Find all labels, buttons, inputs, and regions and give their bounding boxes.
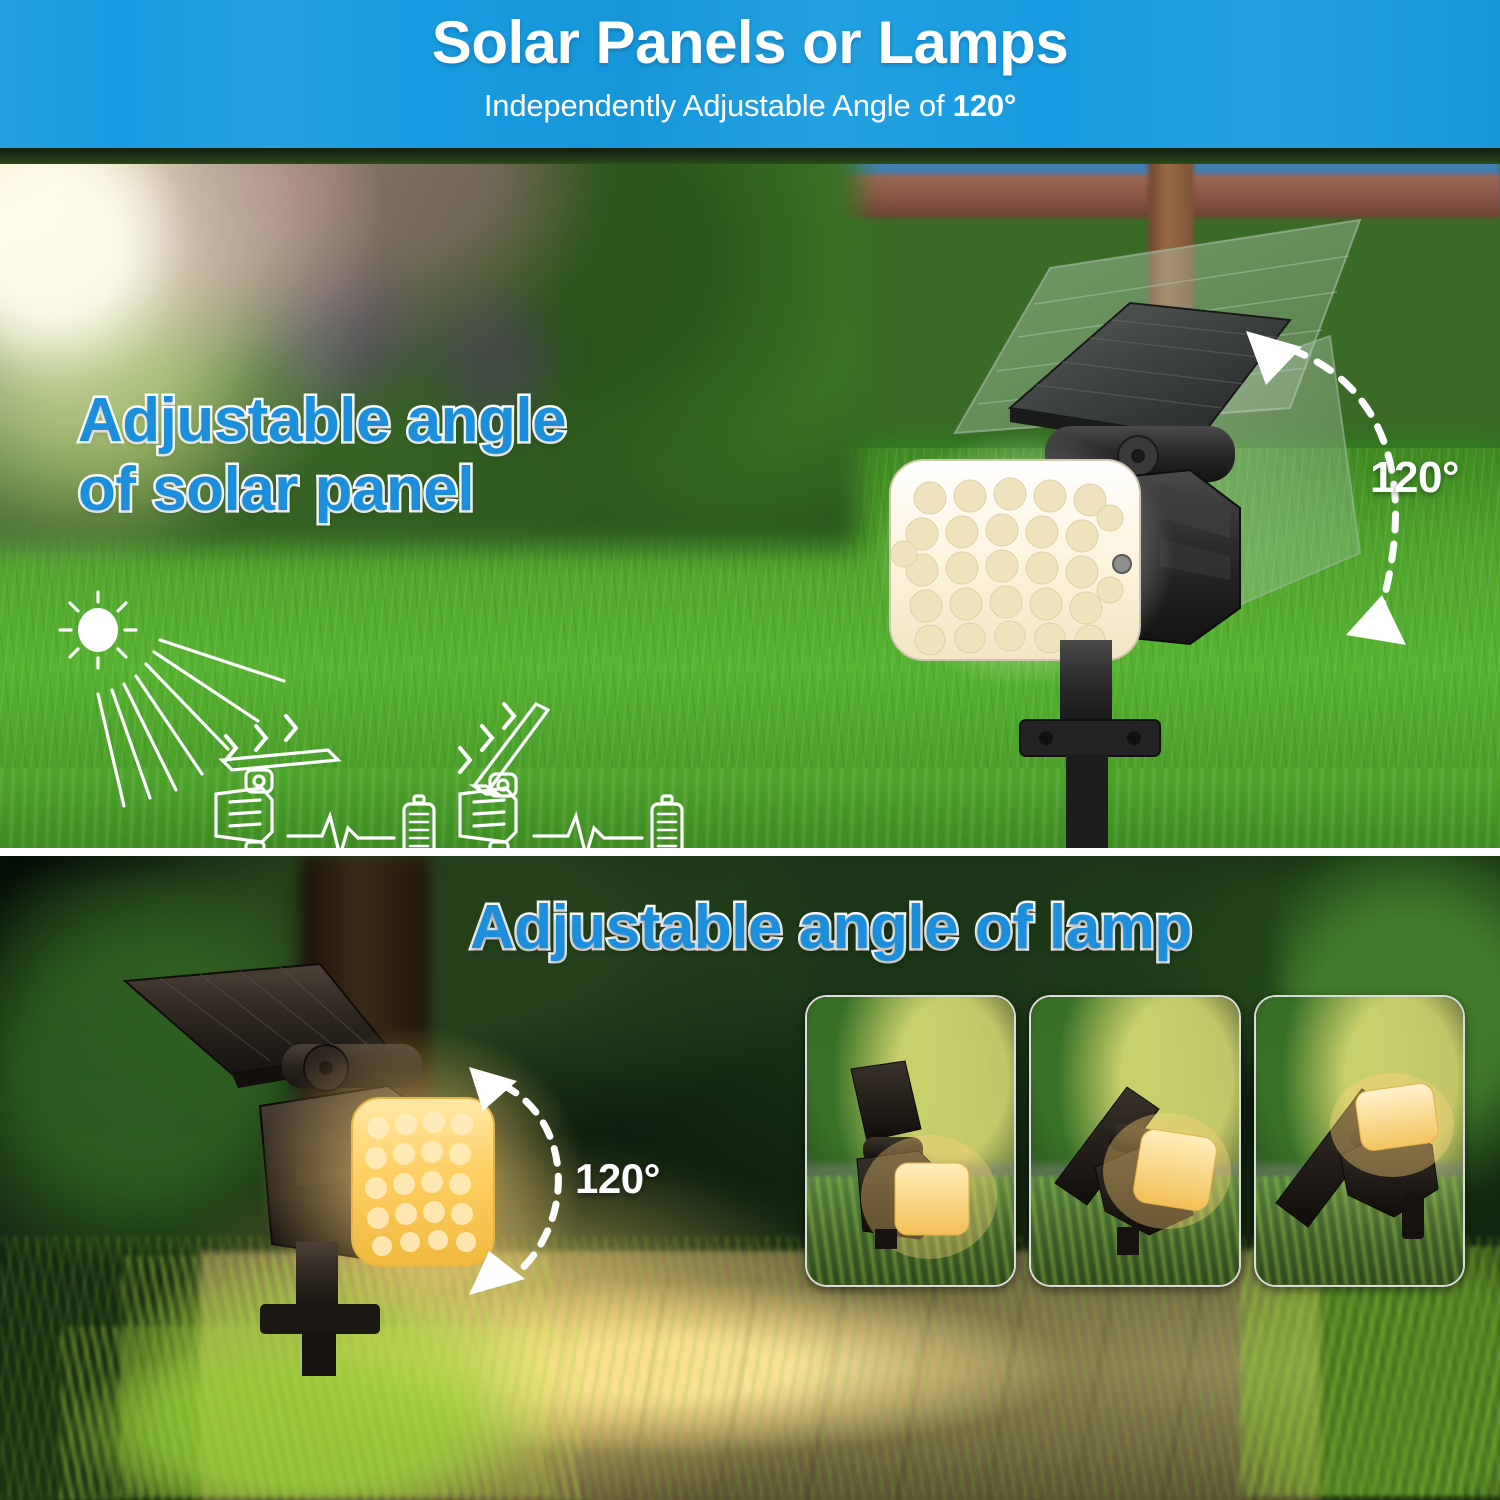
panel-divider bbox=[0, 848, 1500, 856]
solar-panel-angle-annotation: 120° bbox=[1230, 313, 1500, 673]
charge-waveform-1 bbox=[288, 816, 394, 848]
bottom-panel-headline: Adjustable angle of lamp bbox=[470, 892, 1192, 963]
led-head bbox=[890, 460, 1140, 660]
infographic-linework bbox=[50, 588, 730, 848]
banner-title: Solar Panels or Lamps bbox=[0, 8, 1500, 77]
banner-subtitle: Independently Adjustable Angle of 120° bbox=[0, 88, 1500, 124]
lamp-icon-flat bbox=[216, 750, 338, 848]
chevron-arrows-stage-2 bbox=[460, 704, 514, 772]
list-item[interactable] bbox=[1029, 995, 1240, 1287]
battery-icon-2 bbox=[652, 796, 682, 848]
header-banner: Solar Panels or Lamps Independently Adju… bbox=[0, 0, 1500, 148]
sun-icon bbox=[60, 592, 136, 668]
top-panel-day-scene: Adjustable angle of solar panel 120° bbox=[0, 148, 1500, 848]
angle-value-label: 120° bbox=[1370, 453, 1459, 503]
battery-icon-1 bbox=[404, 796, 434, 848]
charge-waveform-2 bbox=[534, 816, 642, 848]
banner-subtitle-value: 120° bbox=[953, 88, 1016, 123]
list-item[interactable] bbox=[805, 995, 1016, 1287]
product-infographic-page: Solar Panels or Lamps Independently Adju… bbox=[0, 0, 1500, 1500]
sun-rays bbox=[98, 640, 284, 806]
top-panel-headline: Adjustable angle of solar panel bbox=[78, 386, 566, 525]
banner-subtitle-prefix: Independently Adjustable Angle of bbox=[484, 88, 953, 123]
angle-arc-icon bbox=[1230, 313, 1500, 673]
scene-top-shadow-strip bbox=[0, 148, 1500, 164]
lamp-angle-thumbnails bbox=[805, 995, 1465, 1285]
angle-value-label-bottom: 120° bbox=[575, 1155, 660, 1203]
lamp-angle-upright-icon bbox=[833, 1059, 993, 1249]
list-item[interactable] bbox=[1254, 995, 1465, 1287]
charging-infographic bbox=[50, 588, 730, 848]
lamp-angle-tilted-icon bbox=[1270, 1071, 1456, 1251]
lamp-angle-annotation: 120° bbox=[455, 1055, 715, 1305]
lamp-angle-mid-icon bbox=[1051, 1075, 1227, 1255]
